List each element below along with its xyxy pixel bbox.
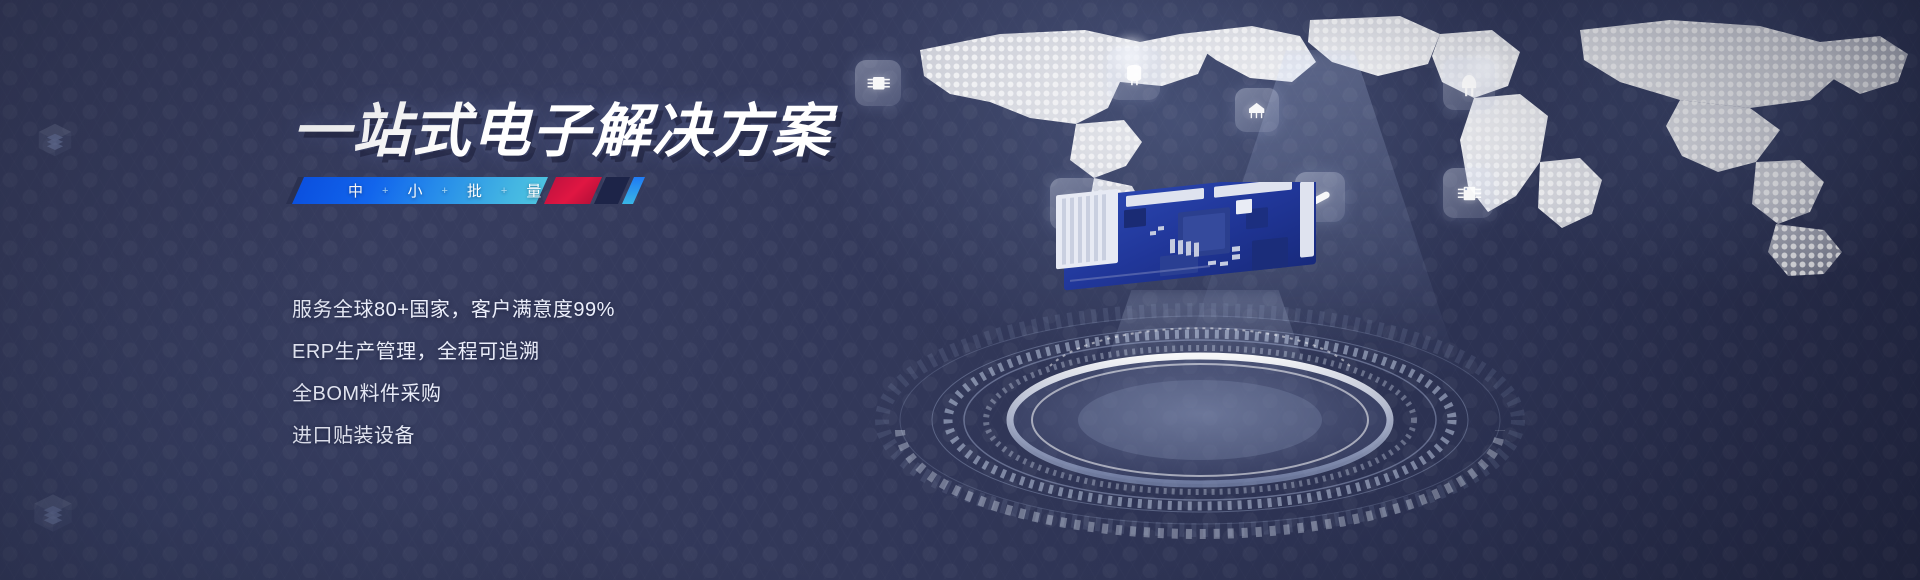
vignette-overlay — [0, 0, 1920, 580]
promo-banner: 一站式电子解决方案 中 + 小 + 批 + 量 服务全球80+国家，客户满意度9… — [0, 0, 1920, 580]
